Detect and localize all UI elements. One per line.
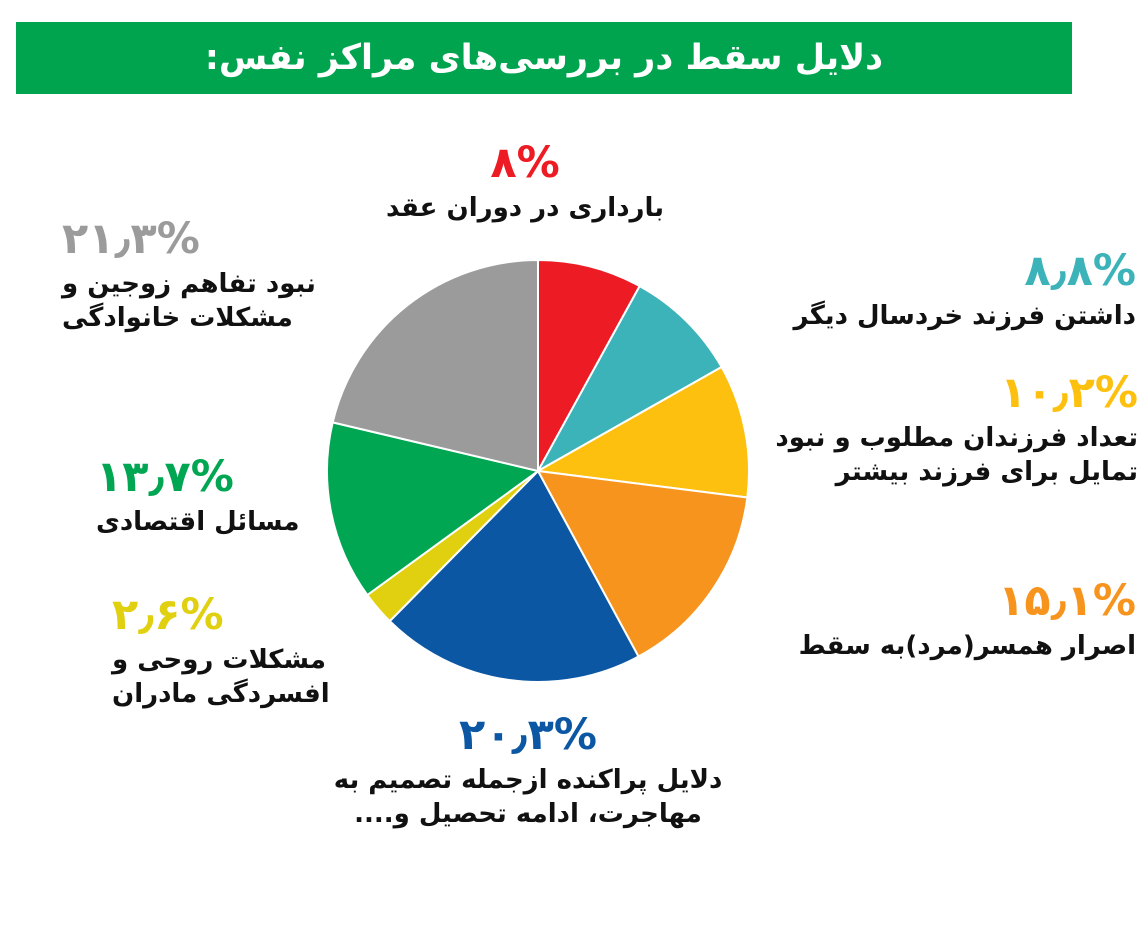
slice-desc-blue-line1: دلایل پراکنده ازجمله تصمیم به	[318, 763, 738, 797]
slice-desc-green: مسائل اقتصادی	[96, 505, 396, 539]
slice-label-scattered-reasons: ۲۰٫۳% دلایل پراکنده ازجمله تصمیم به مهاج…	[318, 710, 738, 831]
slice-desc-blue-line2: مهاجرت، ادامه تحصیل و....	[318, 797, 738, 831]
slice-label-pregnancy-during-engagement: ۸% بارداری در دوران عقد	[360, 138, 690, 225]
slice-percent-blue: ۲۰٫۳%	[318, 710, 738, 761]
slice-label-mental-problems: ۲٫۶% مشکلات روحی و افسردگی مادران	[112, 590, 392, 711]
slice-desc-yellow-line2: افسردگی مادران	[112, 677, 392, 711]
slice-percent-gray: ۲۱٫۳%	[62, 214, 380, 265]
slice-label-desired-children-count: ۱۰٫۲% تعداد فرزندان مطلوب و نبود تمایل ب…	[690, 368, 1138, 489]
slice-percent-orange: ۱۵٫۱%	[706, 576, 1136, 627]
slice-desc-gray-line1: نبود تفاهم زوجین و	[62, 267, 380, 301]
slice-label-husband-insistence: ۱۵٫۱% اصرار همسر(مرد)به سقط	[706, 576, 1136, 663]
slice-label-economic-issues: ۱۳٫۷% مسائل اقتصادی	[96, 452, 396, 539]
slice-percent-amber: ۱۰٫۲%	[690, 368, 1138, 419]
slice-desc-gray-line2: مشکلات خانوادگی	[62, 301, 380, 335]
slice-percent-red: ۸%	[360, 138, 690, 189]
slice-percent-yellow: ۲٫۶%	[112, 590, 392, 641]
title-banner: دلایل سقط در بررسی‌های مراکز نفس:	[16, 22, 1072, 94]
slice-desc-teal: داشتن فرزند خردسال دیگر	[706, 299, 1136, 333]
page-title: دلایل سقط در بررسی‌های مراکز نفس:	[205, 41, 883, 76]
chart-area: ۸% بارداری در دوران عقد ۸٫۸% داشتن فرزند…	[0, 96, 1143, 934]
slice-desc-red: بارداری در دوران عقد	[360, 191, 690, 225]
slice-percent-teal: ۸٫۸%	[706, 246, 1136, 297]
slice-label-another-young-child: ۸٫۸% داشتن فرزند خردسال دیگر	[706, 246, 1136, 333]
slice-desc-orange: اصرار همسر(مرد)به سقط	[706, 629, 1136, 663]
slice-desc-amber-line2: تمایل برای فرزند بیشتر	[690, 455, 1138, 489]
slice-desc-amber-line1: تعداد فرزندان مطلوب و نبود	[690, 421, 1138, 455]
slice-percent-green: ۱۳٫۷%	[96, 452, 396, 503]
slice-desc-yellow-line1: مشکلات روحی و	[112, 643, 392, 677]
slice-label-couple-disagreement: ۲۱٫۳% نبود تفاهم زوجین و مشکلات خانوادگی	[62, 214, 380, 335]
